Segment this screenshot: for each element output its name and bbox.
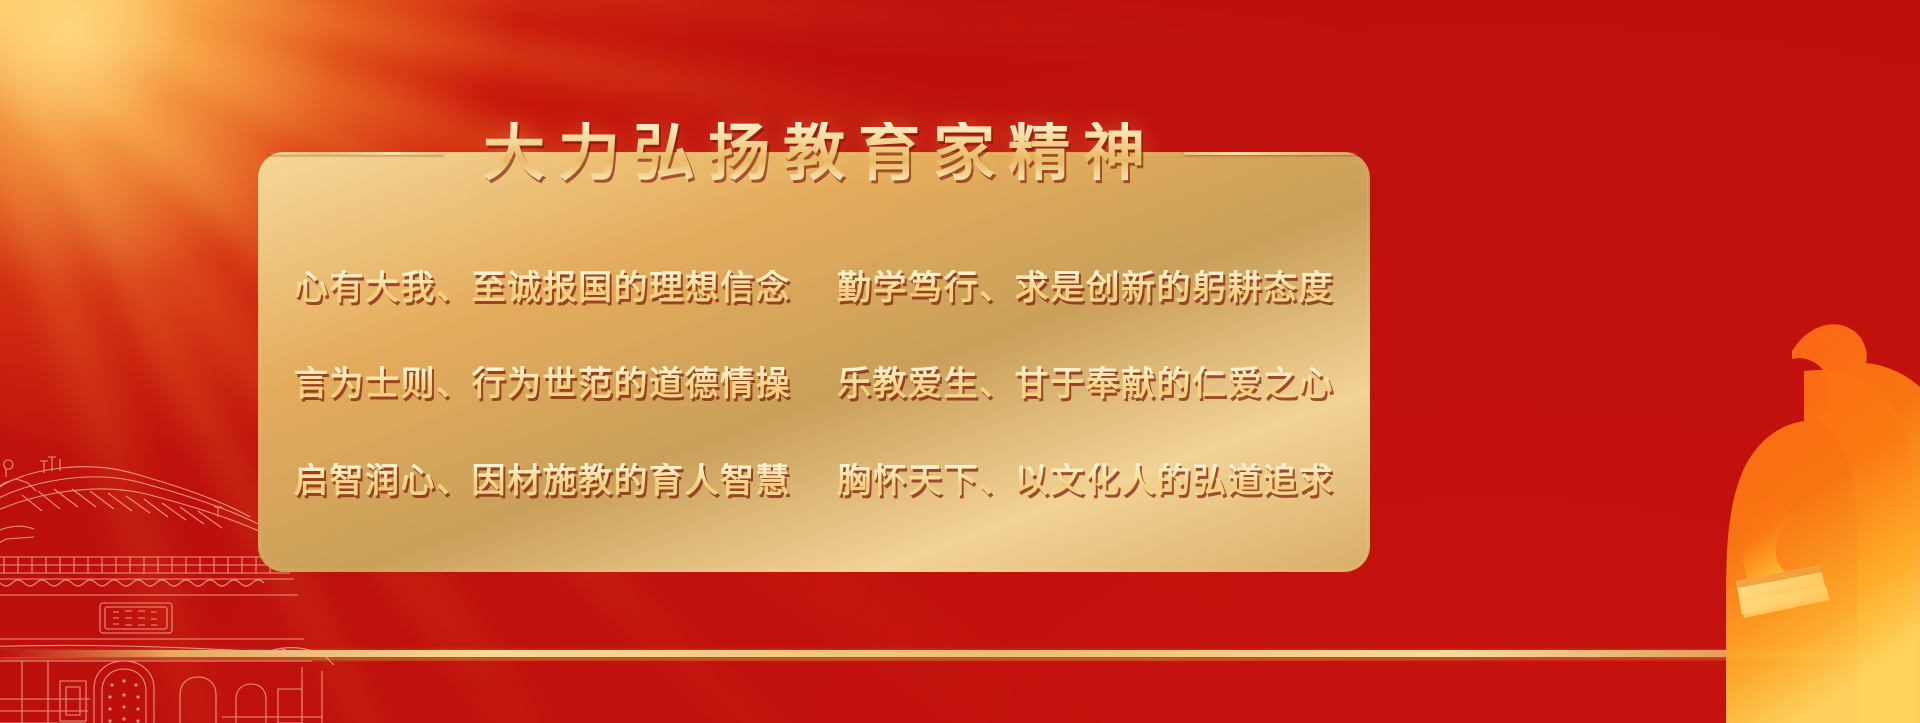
banner-title-group: 大力弘扬教育家精神 — [258, 110, 1370, 196]
slogan-row2-right: 乐教爱生、甘于奉献的仁爱之心 — [825, 366, 1346, 403]
light-ray — [0, 0, 1466, 69]
slogan-grid: 心有大我、至诚报国的理想信念 勤学笃行、求是创新的躬耕态度 言为士则、行为世范的… — [258, 240, 1370, 530]
slogan-row2-left: 言为士则、行为世范的道德情操 — [282, 366, 803, 403]
slogan-row3-left: 启智润心、因材施教的育人智慧 — [282, 463, 803, 500]
slogan-row1-left: 心有大我、至诚报国的理想信念 — [282, 270, 803, 307]
title-rule-left — [268, 152, 444, 155]
slogan-row3-right: 胸怀天下、以文化人的弘道追求 — [825, 463, 1346, 500]
education-spirit-banner: 大力弘扬教育家精神 心有大我、至诚报国的理想信念 勤学笃行、求是创新的躬耕态度 … — [0, 0, 1920, 723]
bottom-ribbon-shadow — [0, 658, 1920, 661]
slogan-row1-right: 勤学笃行、求是创新的躬耕态度 — [825, 270, 1346, 307]
bottom-gold-ribbon — [0, 650, 1920, 657]
page-title: 大力弘扬教育家精神 — [470, 122, 1158, 184]
title-rule-right — [1184, 152, 1360, 155]
